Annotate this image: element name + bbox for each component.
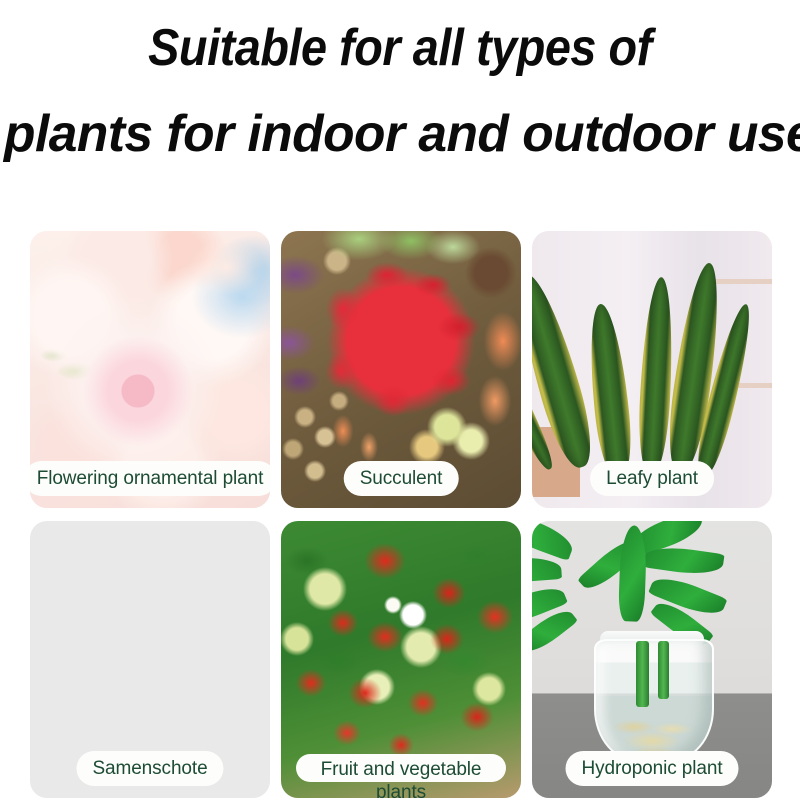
plant-tile-fruit-vegetable[interactable]: Fruit and vegetable plants bbox=[281, 521, 521, 798]
bamboo-leaf bbox=[618, 525, 647, 622]
wall-shelf bbox=[708, 279, 772, 284]
tile-caption: Hydroponic plant bbox=[566, 751, 739, 786]
tile-caption: Leafy plant bbox=[590, 461, 714, 496]
tile-caption: Flowering ornamental plant bbox=[30, 461, 270, 496]
bamboo-leaf bbox=[532, 521, 577, 561]
plant-tile-samenschote[interactable]: Samenschote bbox=[30, 521, 270, 798]
bamboo-stem bbox=[636, 641, 649, 707]
tile-caption: Succulent bbox=[344, 461, 459, 496]
tile-caption: Fruit and vegetable plants bbox=[296, 754, 506, 782]
headline-line-1: Suitable for all types of bbox=[40, 22, 760, 74]
tile-caption: Samenschote bbox=[76, 751, 223, 786]
plant-type-grid: Flowering ornamental plant Succulent Lea… bbox=[30, 231, 774, 798]
bamboo-stem bbox=[658, 641, 669, 699]
sansevieria-leaf bbox=[584, 302, 636, 481]
headline-line-2: plants for indoor and outdoor use bbox=[4, 108, 796, 160]
plant-tile-flowering-ornamental[interactable]: Flowering ornamental plant bbox=[30, 231, 270, 508]
glass-vase bbox=[594, 639, 714, 763]
page-headline: Suitable for all types of plants for ind… bbox=[0, 22, 800, 160]
plant-tile-hydroponic[interactable]: Hydroponic plant bbox=[532, 521, 772, 798]
plant-tile-succulent[interactable]: Succulent bbox=[281, 231, 521, 508]
plant-tile-leafy[interactable]: Leafy plant bbox=[532, 231, 772, 508]
bamboo-leaf bbox=[532, 555, 562, 584]
